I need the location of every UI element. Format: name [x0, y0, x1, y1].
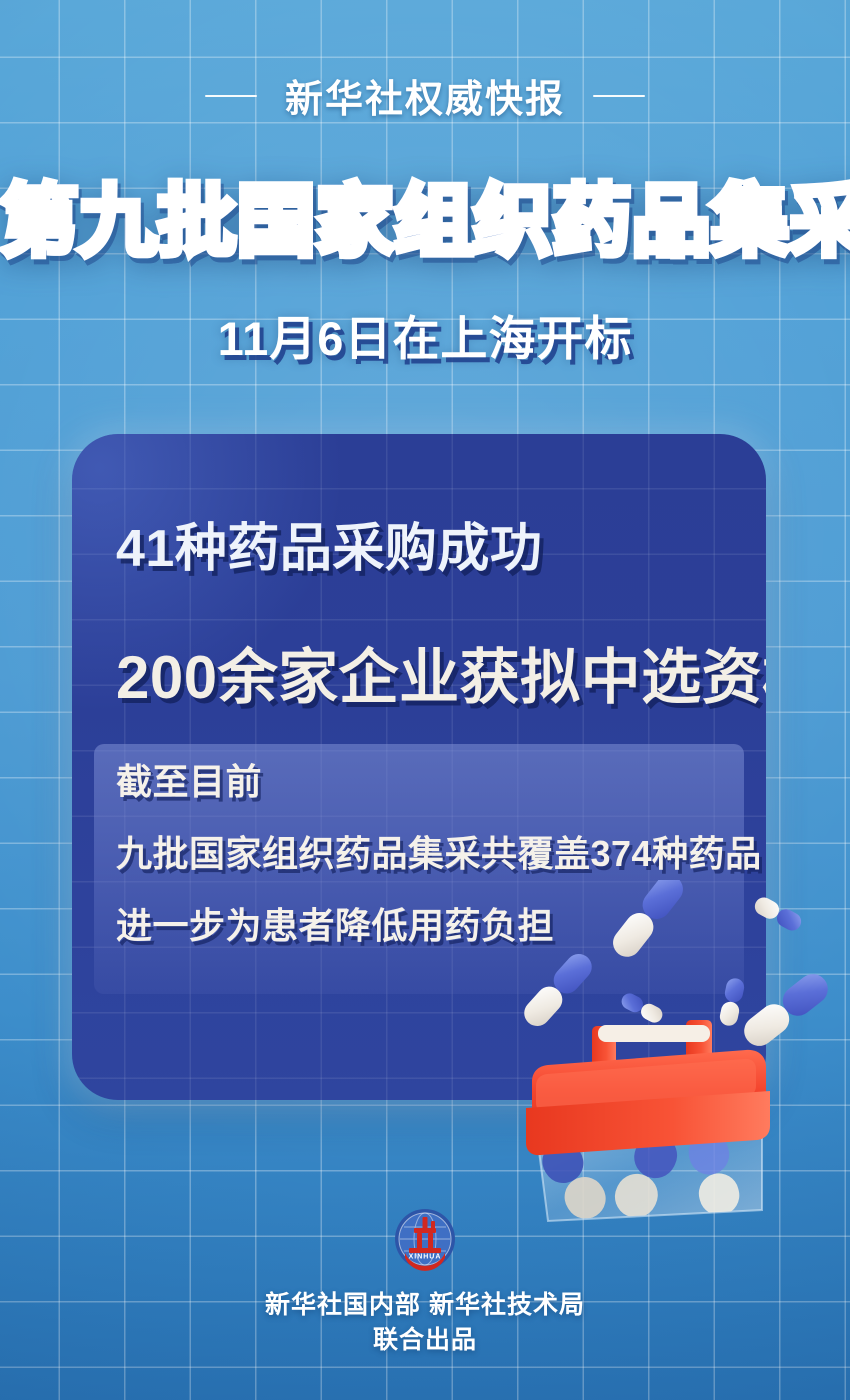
xinhua-logo-icon: XINHUA	[393, 1207, 457, 1271]
card-headline-secondary: 200余家企业获拟中选资格	[116, 629, 736, 716]
eyebrow-rule-left	[205, 95, 257, 97]
footer-line-2: 联合出品	[0, 1323, 850, 1358]
footer-line-1: 新华社国内部 新华社技术局	[0, 1288, 850, 1323]
card-body-line: 截至目前	[116, 764, 756, 800]
card-body-line: 九批国家组织药品集采共覆盖374种药品	[116, 836, 756, 872]
footer-credits: 新华社国内部 新华社技术局 联合出品	[0, 1288, 850, 1357]
eyebrow-label: 新华社权威快报	[285, 68, 565, 123]
box-lid	[526, 1050, 770, 1155]
card-headlines: 41种药品采购成功 200余家企业获拟中选资格	[116, 506, 736, 716]
card-headline-primary: 41种药品采购成功	[116, 506, 736, 581]
eyebrow-banner: 新华社权威快报	[0, 68, 850, 123]
page-title: 第九批国家组织药品集采	[0, 182, 850, 260]
logo-wordmark: XINHUA	[409, 1254, 442, 1261]
main-title-wrap: 第九批国家组织药品集采	[0, 182, 850, 260]
medicine-box-illustration	[500, 880, 850, 1225]
eyebrow-rule-right	[593, 95, 645, 97]
page-subtitle: 11月6日在上海开标	[0, 300, 850, 369]
poster-canvas: 新华社权威快报 第九批国家组织药品集采 11月6日在上海开标 41种药品采购成功…	[0, 0, 850, 1400]
